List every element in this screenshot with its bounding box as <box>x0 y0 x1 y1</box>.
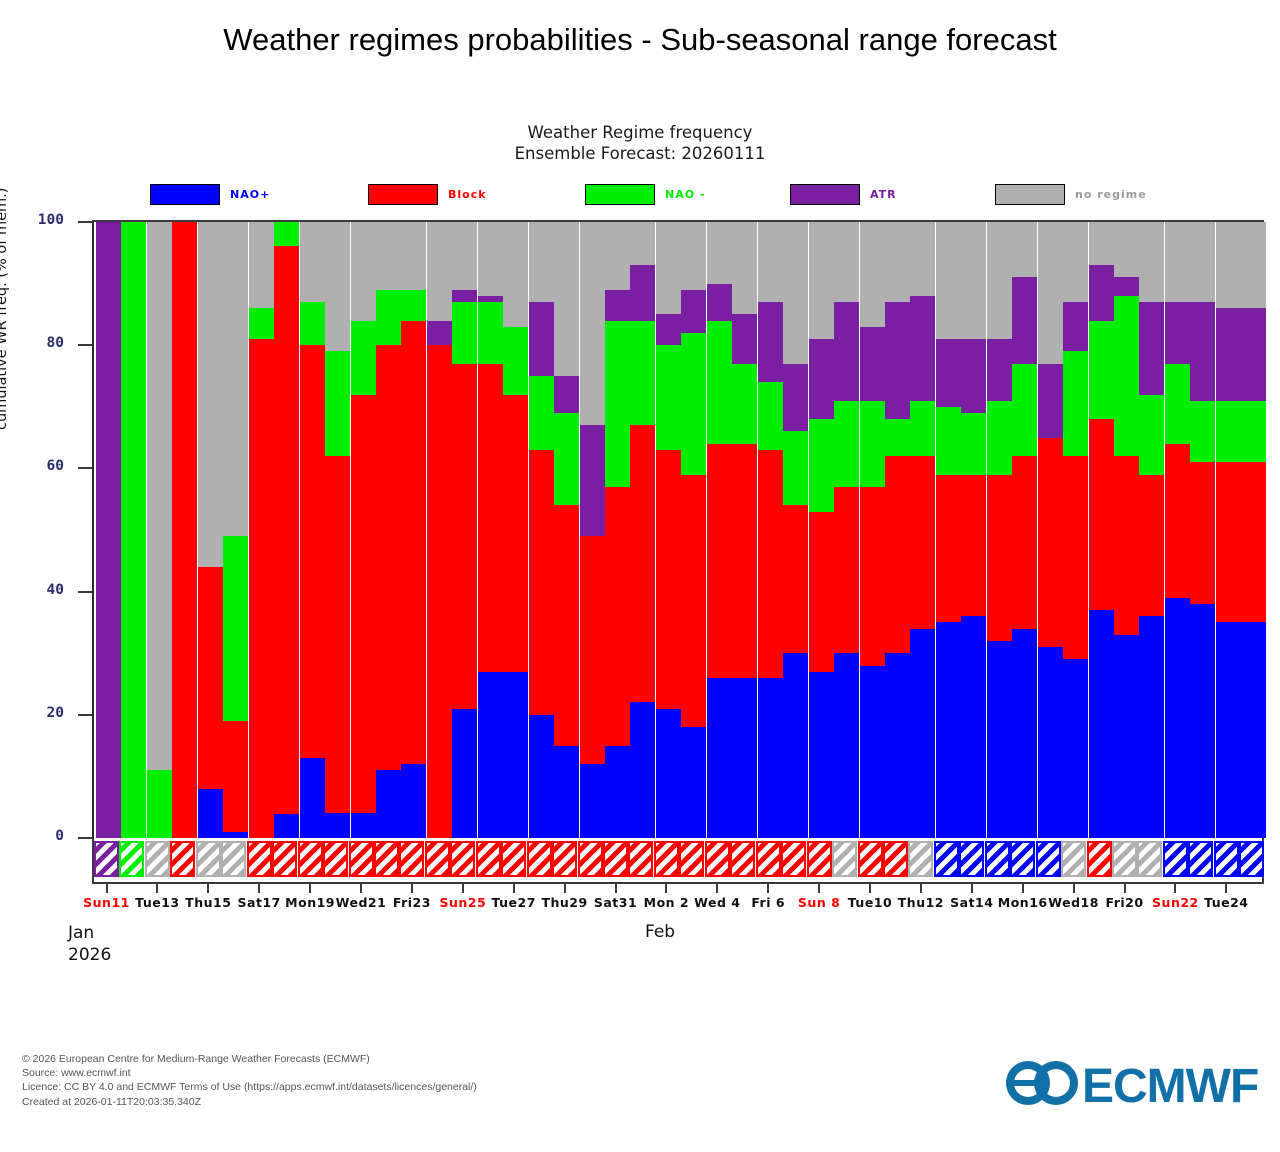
bar-segment-nao- <box>452 302 477 364</box>
ecmwf-logo: ECMWF <box>1006 1055 1256 1117</box>
bar-segment-atr <box>961 339 986 413</box>
x-axis-tick-mark <box>665 884 667 893</box>
x-axis-tick-label: Fri20 <box>1105 895 1143 910</box>
bar-segment-nao- <box>300 302 325 345</box>
bar-segment-nao+ <box>503 672 528 838</box>
dominant-regime-box <box>832 841 857 877</box>
x-axis-tick-mark <box>1174 884 1176 893</box>
dominant-regime-box <box>527 841 552 877</box>
stacked-bar <box>580 222 605 838</box>
bar-segment-noregime <box>783 222 808 364</box>
bar-segment-nao+ <box>885 653 910 838</box>
bar-segment-block <box>478 364 503 672</box>
x-axis-tick-label: Tue24 <box>1204 895 1248 910</box>
bar-segment-block <box>427 345 452 838</box>
bar-segment-block <box>223 721 248 832</box>
y-axis-tick-label: 60 <box>18 458 64 474</box>
x-axis-tick-label: Tue10 <box>848 895 892 910</box>
stacked-bar <box>554 222 579 838</box>
stacked-bar <box>987 222 1012 838</box>
bar-segment-noregime <box>630 222 655 265</box>
dominant-regime-box <box>654 841 679 877</box>
bar-segment-block <box>580 536 605 764</box>
x-axis-tick-label: Sun 8 <box>798 895 840 910</box>
bar-segment-nao- <box>376 290 401 345</box>
dominant-regime-box <box>934 841 959 877</box>
dominant-regime-box <box>1010 841 1035 877</box>
bar-segment-noregime <box>401 222 426 290</box>
stacked-bar <box>1165 222 1190 838</box>
stacked-bar <box>961 222 986 838</box>
stacked-bar <box>1216 222 1241 838</box>
bar-segment-atr <box>783 364 808 432</box>
stacked-bar <box>910 222 935 838</box>
bar-segment-nao- <box>325 351 350 456</box>
y-axis-tick-label: 40 <box>18 582 64 598</box>
dominant-regime-box <box>1112 841 1137 877</box>
stacked-bar <box>630 222 655 838</box>
bar-segment-nao+ <box>630 702 655 838</box>
bar-segment-atr <box>732 314 757 363</box>
dominant-regime-box <box>959 841 984 877</box>
bar-segment-nao+ <box>809 672 834 838</box>
stacked-bar <box>758 222 783 838</box>
bar-segment-noregime <box>1139 222 1164 302</box>
y-axis-tick-mark <box>78 221 92 223</box>
bar-segment-atr <box>681 290 706 333</box>
x-axis-tick-label: Fri 6 <box>751 895 785 910</box>
dominant-regime-box <box>94 841 119 877</box>
bar-segment-atr <box>834 302 859 401</box>
bar-segment-nao- <box>503 327 528 395</box>
dominant-regime-box <box>603 841 628 877</box>
bar-segment-nao- <box>1114 296 1139 456</box>
bar-segment-block <box>910 456 935 628</box>
x-axis-tick-mark <box>869 884 871 893</box>
x-axis-tick-mark <box>156 884 158 893</box>
bar-segment-atr <box>1089 265 1114 320</box>
bar-segment-atr <box>605 290 630 321</box>
dominant-regime-box <box>908 841 933 877</box>
dominant-regime-box <box>679 841 704 877</box>
bar-segment-noregime <box>529 222 554 302</box>
x-axis-tick-label: Thu15 <box>185 895 231 910</box>
stacked-bar <box>809 222 834 838</box>
bar-segment-block <box>732 444 757 678</box>
bar-segment-noregime <box>910 222 935 296</box>
stacked-bar <box>503 222 528 838</box>
bar-segment-noregime <box>809 222 834 339</box>
bar-segment-block <box>630 425 655 702</box>
x-axis-tick-label: Sun22 <box>1152 895 1199 910</box>
bar-segment-nao+ <box>1114 635 1139 838</box>
footer-created: Created at 2026-01-11T20:03:35.340Z <box>22 1095 477 1109</box>
x-axis-tick-label: Thu29 <box>541 895 587 910</box>
dominant-regime-box <box>1188 841 1213 877</box>
footer-credits: © 2026 European Centre for Medium-Range … <box>22 1052 477 1109</box>
stacked-bar <box>885 222 910 838</box>
dominant-regime-box <box>298 841 323 877</box>
chart-plot-wrapper: cumulative WR freq. (% of mem.) Sun11Tue… <box>0 0 1280 1152</box>
bar-segment-atr <box>1241 308 1266 400</box>
bar-segment-nao- <box>1089 321 1114 420</box>
bar-segment-noregime <box>452 222 477 290</box>
y-axis-label: cumulative WR freq. (% of mem.) <box>0 130 10 430</box>
bar-segment-nao- <box>223 536 248 721</box>
bar-segment-nao+ <box>732 678 757 838</box>
bar-segment-nao- <box>1241 401 1266 463</box>
bar-segment-block <box>1063 456 1088 659</box>
stacked-bar <box>1114 222 1139 838</box>
bar-segment-nao+ <box>707 678 732 838</box>
bar-segment-noregime <box>681 222 706 290</box>
bar-segment-atr <box>707 284 732 321</box>
x-axis-tick-label: Wed21 <box>336 895 387 910</box>
y-axis-tick-label: 20 <box>18 705 64 721</box>
dominant-regime-box <box>1036 841 1061 877</box>
bar-segment-noregime <box>300 222 325 302</box>
bar-segment-nao+ <box>529 715 554 838</box>
bar-segment-block <box>809 512 834 672</box>
stacked-bar <box>427 222 452 838</box>
x-axis-tick-label: Sat14 <box>950 895 993 910</box>
bar-segment-noregime <box>707 222 732 284</box>
x-axis-tick-mark <box>1022 884 1024 893</box>
bar-segment-block <box>198 567 223 789</box>
bar-segment-nao+ <box>961 616 986 838</box>
dominant-regime-box <box>349 841 374 877</box>
stacked-bar <box>1012 222 1037 838</box>
stacked-bar <box>452 222 477 838</box>
dominant-regime-box <box>883 841 908 877</box>
bar-segment-block <box>351 395 376 814</box>
bar-segment-noregime <box>198 222 223 567</box>
dominant-regime-box <box>730 841 755 877</box>
x-axis-tick-mark <box>106 884 108 893</box>
bar-segment-nao+ <box>987 641 1012 838</box>
bar-segment-nao- <box>351 321 376 395</box>
bar-segment-block <box>401 321 426 765</box>
bar-segment-nao- <box>1063 351 1088 456</box>
dominant-regime-box <box>1163 841 1188 877</box>
bar-segment-nao- <box>1165 364 1190 444</box>
bar-segment-noregime <box>605 222 630 290</box>
bar-segment-nao+ <box>1165 598 1190 838</box>
dominant-regime-box <box>985 841 1010 877</box>
stacked-bar <box>325 222 350 838</box>
bar-segment-noregime <box>987 222 1012 339</box>
bar-segment-nao- <box>885 419 910 456</box>
stacked-bar <box>1038 222 1063 838</box>
bar-segment-nao- <box>1139 395 1164 475</box>
ecmwf-mark-icon <box>1006 1055 1080 1111</box>
footer-copyright: © 2026 European Centre for Medium-Range … <box>22 1052 477 1066</box>
dominant-regime-box <box>476 841 501 877</box>
bar-segment-nao- <box>249 308 274 339</box>
dominant-regime-box <box>196 841 221 877</box>
x-axis-tick-mark <box>920 884 922 893</box>
bar-segment-block <box>1241 462 1266 622</box>
x-axis-tick-label: Mon 2 <box>644 895 689 910</box>
bar-segment-noregime <box>1089 222 1114 265</box>
stacked-bar <box>936 222 961 838</box>
x-axis-tick-mark <box>1225 884 1227 893</box>
bar-segment-atr <box>936 339 961 407</box>
y-axis-tick-mark <box>78 837 92 839</box>
stacked-bar <box>1063 222 1088 838</box>
stacked-bar <box>681 222 706 838</box>
bar-segment-atr <box>1114 277 1139 295</box>
bar-segment-atr <box>529 302 554 376</box>
x-axis-tick-label: Mon16 <box>998 895 1048 910</box>
bar-segment-atr <box>1063 302 1088 351</box>
bar-segment-block <box>783 505 808 653</box>
stacked-bar <box>300 222 325 838</box>
dominant-regime-box <box>578 841 603 877</box>
bar-segment-nao- <box>478 302 503 364</box>
bar-segment-nao+ <box>452 709 477 838</box>
bar-segment-nao+ <box>478 672 503 838</box>
bar-segment-nao- <box>401 290 426 321</box>
dominant-regime-box <box>552 841 577 877</box>
bar-segment-noregime <box>758 222 783 302</box>
x-axis-tick-label: Sat31 <box>594 895 637 910</box>
bar-segment-block <box>885 456 910 653</box>
x-axis-tick-label: Fri23 <box>393 895 431 910</box>
stacked-bar <box>376 222 401 838</box>
bar-segment-noregime <box>351 222 376 321</box>
bar-segment-noregime <box>1165 222 1190 302</box>
x-axis-tick-mark <box>615 884 617 893</box>
bar-segment-nao+ <box>554 746 579 838</box>
stacked-bar <box>274 222 299 838</box>
stacked-bar <box>121 222 146 838</box>
y-axis-tick-label: 80 <box>18 335 64 351</box>
bar-segment-atr <box>452 290 477 302</box>
dominant-regime-box <box>1137 841 1162 877</box>
footer-licence: Licence: CC BY 4.0 and ECMWF Terms of Us… <box>22 1080 477 1094</box>
bar-segment-nao+ <box>910 629 935 838</box>
bar-segment-atr <box>1165 302 1190 364</box>
bar-segment-noregime <box>860 222 885 327</box>
bar-segment-nao+ <box>1216 622 1241 838</box>
bar-segment-nao+ <box>656 709 681 838</box>
bar-segment-noregime <box>376 222 401 290</box>
bar-segment-nao+ <box>351 813 376 838</box>
y-axis-tick-mark <box>78 591 92 593</box>
bar-segment-nao+ <box>1063 659 1088 838</box>
bar-segment-atr <box>910 296 935 401</box>
x-axis-tick-mark <box>207 884 209 893</box>
bar-segment-atr <box>1012 277 1037 363</box>
dominant-regime-box <box>501 841 526 877</box>
dominant-regime-box <box>807 841 832 877</box>
dominant-regime-box <box>450 841 475 877</box>
stacked-bar <box>198 222 223 838</box>
bar-segment-atr <box>1190 302 1215 401</box>
x-axis-tick-mark <box>564 884 566 893</box>
bar-segment-noregime <box>478 222 503 296</box>
bar-segment-nao+ <box>325 813 350 838</box>
bar-segment-atr <box>427 321 452 346</box>
bar-segment-nao+ <box>1012 629 1037 838</box>
stacked-bar <box>1139 222 1164 838</box>
dominant-regime-box <box>170 841 195 877</box>
bars-container <box>92 222 1264 838</box>
bar-segment-nao- <box>554 413 579 505</box>
bar-segment-atr <box>1038 364 1063 438</box>
dominant-regime-box <box>705 841 730 877</box>
bar-segment-noregime <box>147 222 172 770</box>
x-axis-tick-label: Sat17 <box>238 895 281 910</box>
bar-segment-atr <box>96 222 121 838</box>
bar-segment-nao+ <box>860 666 885 838</box>
bar-segment-nao- <box>1216 401 1241 463</box>
bar-segment-noregime <box>1012 222 1037 277</box>
bar-segment-nao- <box>630 321 655 426</box>
bar-segment-nao- <box>758 382 783 450</box>
bar-segment-block <box>605 487 630 746</box>
y-axis-tick-mark <box>78 714 92 716</box>
bar-segment-block <box>249 339 274 838</box>
bar-segment-noregime <box>503 222 528 327</box>
x-axis-tick-mark <box>513 884 515 893</box>
bar-segment-noregime <box>1216 222 1241 308</box>
bar-segment-nao- <box>936 407 961 475</box>
bar-segment-atr <box>580 425 605 536</box>
bar-segment-noregime <box>580 222 605 425</box>
x-axis-tick-label: Wed 4 <box>694 895 740 910</box>
bar-segment-block <box>656 450 681 709</box>
bar-segment-noregime <box>961 222 986 339</box>
stacked-bar <box>351 222 376 838</box>
dominant-regime-box <box>1239 841 1264 877</box>
y-axis-tick-label: 0 <box>18 828 64 844</box>
bar-segment-nao- <box>834 401 859 487</box>
bar-segment-noregime <box>656 222 681 314</box>
bar-segment-nao- <box>529 376 554 450</box>
stacked-bar <box>860 222 885 838</box>
x-axis-month-jan: Jan 2026 <box>68 922 111 966</box>
x-axis: Sun11Tue13Thu15Sat17Mon19Wed21Fri23Sun25… <box>92 884 1264 924</box>
x-axis-month-feb: Feb <box>645 922 675 942</box>
bar-segment-block <box>834 487 859 653</box>
bar-segment-nao+ <box>274 814 299 838</box>
bar-segment-nao- <box>1190 401 1215 463</box>
x-axis-tick-label: Sun11 <box>83 895 130 910</box>
x-axis-tick-label: Tue27 <box>491 895 535 910</box>
bar-segment-noregime <box>249 222 274 308</box>
stacked-bar <box>1089 222 1114 838</box>
bar-segment-block <box>1012 456 1037 628</box>
bar-segment-block <box>1089 419 1114 610</box>
stacked-bar <box>732 222 757 838</box>
bar-segment-nao- <box>910 401 935 456</box>
bar-segment-nao- <box>860 401 885 487</box>
stacked-bar <box>401 222 426 838</box>
stacked-bar <box>478 222 503 838</box>
x-axis-tick-mark <box>1073 884 1075 893</box>
stacked-bar <box>147 222 172 838</box>
bar-segment-noregime <box>1241 222 1266 308</box>
bar-segment-noregime <box>325 222 350 351</box>
x-axis-tick-label: Mon19 <box>285 895 335 910</box>
bar-segment-noregime <box>885 222 910 302</box>
bar-segment-nao- <box>707 321 732 444</box>
bar-segment-nao+ <box>401 764 426 838</box>
bar-segment-block <box>274 246 299 813</box>
bar-segment-nao+ <box>834 653 859 838</box>
bar-segment-noregime <box>936 222 961 339</box>
month-jan-label: Jan <box>68 922 111 944</box>
bar-segment-block <box>325 456 350 813</box>
stacked-bar <box>223 222 248 838</box>
bar-segment-noregime <box>732 222 757 314</box>
stacked-bar <box>172 222 197 838</box>
bar-segment-noregime <box>223 222 248 536</box>
bar-segment-atr <box>554 376 579 413</box>
bar-segment-nao- <box>809 419 834 511</box>
bar-segment-block <box>1216 462 1241 622</box>
bar-segment-noregime <box>1190 222 1215 302</box>
bar-segment-atr <box>885 302 910 419</box>
x-axis-tick-mark <box>971 884 973 893</box>
footer-source: Source: www.ecmwf.int <box>22 1066 477 1080</box>
bar-segment-nao+ <box>1190 604 1215 838</box>
bar-segment-nao+ <box>1089 610 1114 838</box>
dominant-regime-box <box>858 841 883 877</box>
bar-segment-atr <box>987 339 1012 401</box>
bar-segment-atr <box>656 314 681 345</box>
dominant-regime-box <box>221 841 246 877</box>
dominant-regime-box <box>781 841 806 877</box>
bar-segment-block <box>1190 462 1215 604</box>
bar-segment-block <box>1038 438 1063 647</box>
x-axis-tick-label: Wed18 <box>1048 895 1099 910</box>
bar-segment-block <box>961 475 986 617</box>
year-label: 2026 <box>68 944 111 966</box>
bar-segment-nao+ <box>681 727 706 838</box>
x-axis-tick-mark <box>767 884 769 893</box>
bar-segment-atr <box>809 339 834 419</box>
x-axis-tick-label: Tue13 <box>135 895 179 910</box>
stacked-bar <box>529 222 554 838</box>
bar-segment-nao- <box>987 401 1012 475</box>
bar-segment-atr <box>1139 302 1164 394</box>
dominant-regime-box <box>272 841 297 877</box>
bar-segment-nao+ <box>936 622 961 838</box>
bar-segment-block <box>554 505 579 745</box>
bar-segment-noregime <box>1114 222 1139 277</box>
bar-segment-noregime <box>1038 222 1063 364</box>
bar-segment-block <box>529 450 554 715</box>
bar-segment-block <box>1139 475 1164 617</box>
bar-segment-nao+ <box>198 789 223 838</box>
dominant-regime-box <box>628 841 653 877</box>
bar-segment-noregime <box>554 222 579 376</box>
bar-segment-noregime <box>834 222 859 302</box>
bar-segment-nao- <box>732 364 757 444</box>
bar-segment-atr <box>630 265 655 320</box>
bar-segment-atr <box>758 302 783 382</box>
stacked-bar <box>249 222 274 838</box>
x-axis-tick-label: Thu12 <box>898 895 944 910</box>
dominant-regime-box <box>1087 841 1112 877</box>
stacked-bar <box>834 222 859 838</box>
dominant-regime-row <box>92 841 1264 877</box>
y-axis-tick-mark <box>78 467 92 469</box>
x-axis-tick-mark <box>1124 884 1126 893</box>
